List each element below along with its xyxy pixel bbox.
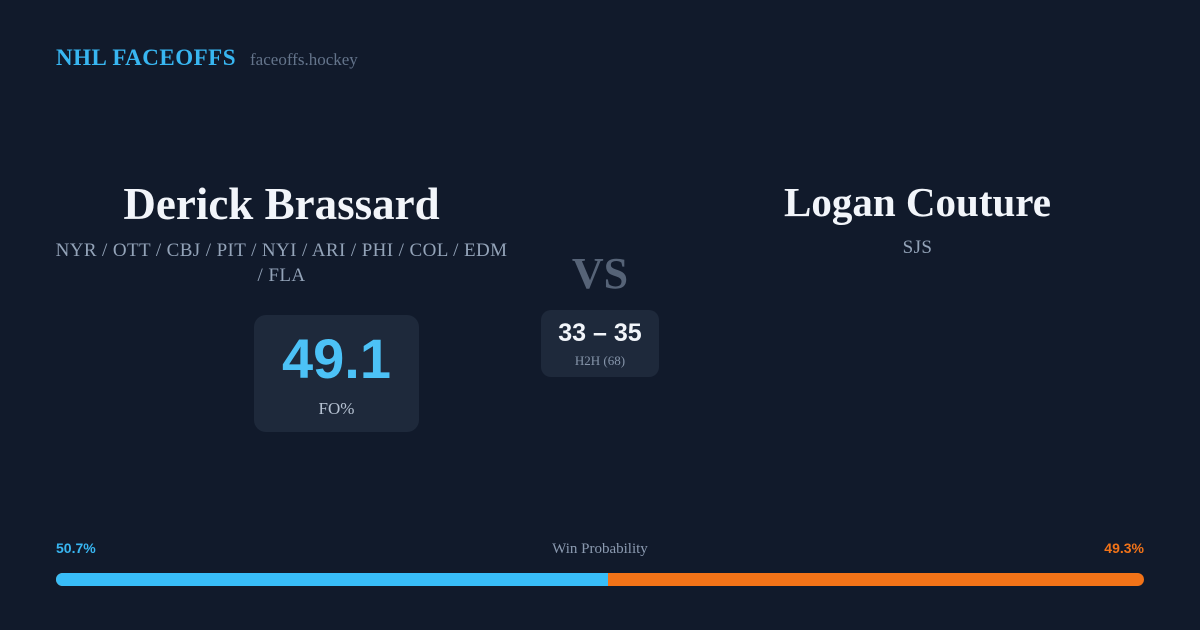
- win-probability-labels: 50.7% Win Probability 49.3%: [56, 541, 1144, 563]
- versus-block: VS 33 – 35 H2H (68): [500, 180, 700, 296]
- player-left: Derick Brassard NYR / OTT / CBJ / PIT / …: [54, 180, 509, 289]
- win-probability-bar: [56, 573, 1144, 586]
- player-right-name: Logan Couture: [690, 180, 1145, 224]
- header: NHL FACEOFFS faceoffs.hockey: [56, 46, 358, 69]
- vs-label: VS: [500, 252, 700, 296]
- head-to-head-score: 33 – 35: [558, 321, 641, 346]
- player-left-fo-label: FO%: [319, 400, 355, 417]
- head-to-head-card: 33 – 35 H2H (68): [541, 310, 659, 377]
- win-probability-title: Win Probability: [56, 542, 1144, 557]
- brand-title: NHL FACEOFFS: [56, 46, 236, 69]
- head-to-head-label: H2H (68): [575, 354, 625, 367]
- player-left-teams: NYR / OTT / CBJ / PIT / NYI / ARI / PHI …: [54, 238, 509, 289]
- matchup-graphic: NHL FACEOFFS faceoffs.hockey Derick Bras…: [0, 0, 1200, 630]
- win-probability-section: 50.7% Win Probability 49.3%: [56, 541, 1144, 586]
- matchup-row: Derick Brassard NYR / OTT / CBJ / PIT / …: [0, 180, 1200, 450]
- player-left-name: Derick Brassard: [54, 180, 509, 229]
- player-right: Logan Couture SJS 48.2 FO%: [690, 180, 1145, 261]
- win-probability-bar-left-fill: [56, 573, 608, 586]
- win-probability-right-value: 49.3%: [1104, 541, 1144, 555]
- player-left-fo-value: 49.1: [282, 331, 391, 387]
- player-left-fo-card: 49.1 FO%: [254, 315, 419, 432]
- brand-domain: faceoffs.hockey: [250, 51, 358, 68]
- player-right-teams: SJS: [690, 235, 1145, 261]
